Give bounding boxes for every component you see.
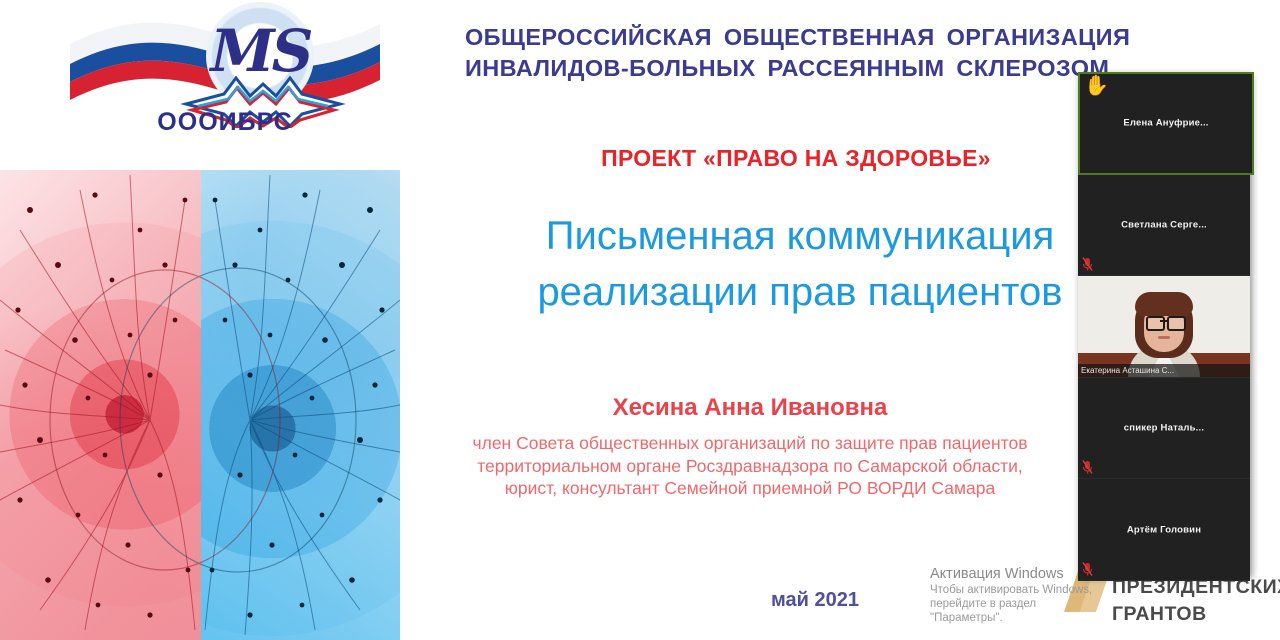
speaker-role-line-2: территориальном органе Росздравнадзора п… [400, 455, 1100, 478]
slide-title-line-1: Письменная коммуникация [546, 214, 1055, 258]
raised-hand-icon: ✋ [1084, 76, 1109, 96]
participant-name: Елена Ануфрие... [1080, 118, 1252, 129]
video-person-fringe [1135, 292, 1193, 316]
mic-muted-icon [1082, 460, 1093, 474]
participant-tile[interactable]: Светлана Серге... [1078, 175, 1250, 277]
artwork-node-dots [0, 170, 400, 640]
glasses-bridge-icon [1160, 320, 1168, 322]
glasses-left-lens-icon [1146, 316, 1165, 331]
neural-network-artwork [0, 170, 400, 640]
participant-video-tile[interactable]: Екатерина Асташина С... [1078, 276, 1250, 378]
video-conference-participant-panel[interactable]: ✋ Елена Ануфрие... Светлана Серге... Ека… [1078, 72, 1250, 575]
mic-muted-icon [1082, 562, 1093, 576]
video-person-mouth [1158, 336, 1170, 339]
speaker-name: Хесина Анна Ивановна [430, 394, 1070, 422]
participant-name: Артём Головин [1078, 524, 1250, 535]
mic-muted-icon [1082, 257, 1093, 271]
participant-name: Светлана Серге... [1078, 219, 1250, 230]
watermark-sub-line-1: Чтобы активировать Windows, перейдите в … [930, 583, 1140, 611]
speaker-role: член Совета общественных организаций по … [400, 432, 1100, 500]
watermark-subtitle: Чтобы активировать Windows, перейдите в … [930, 583, 1140, 625]
slide-date: май 2021 [700, 589, 930, 612]
slide-title-line-2: реализации прав пациентов [420, 264, 1180, 320]
organization-logo: MS ОООИБРС [60, 2, 390, 147]
glasses-right-lens-icon [1167, 316, 1186, 331]
slide-title: Письменная коммуникация реализации прав … [420, 208, 1180, 320]
logo-abbreviation: ОООИБРС [60, 108, 390, 137]
participant-tile[interactable]: ✋ Елена Ануфрие... [1078, 72, 1254, 175]
org-title-line-1: ОБЩЕРОССИЙСКАЯ ОБЩЕСТВЕННАЯ ОРГАНИЗАЦИЯ [465, 24, 1130, 50]
participant-tile[interactable]: Артём Головин [1078, 479, 1250, 581]
project-name: ПРОЕКТ «ПРАВО НА ЗДОРОВЬЕ» [466, 145, 1126, 172]
participant-tile[interactable]: спикер Наталь... [1078, 378, 1250, 480]
participant-name: Екатерина Асташина С... [1078, 364, 1250, 377]
speaker-role-line-1: член Совета общественных организаций по … [400, 432, 1100, 455]
speaker-role-line-3: юрист, консультант Семейной приемной РО … [400, 477, 1100, 500]
watermark-sub-line-2: "Параметры". [930, 611, 1140, 625]
participant-name: спикер Наталь... [1078, 423, 1250, 434]
